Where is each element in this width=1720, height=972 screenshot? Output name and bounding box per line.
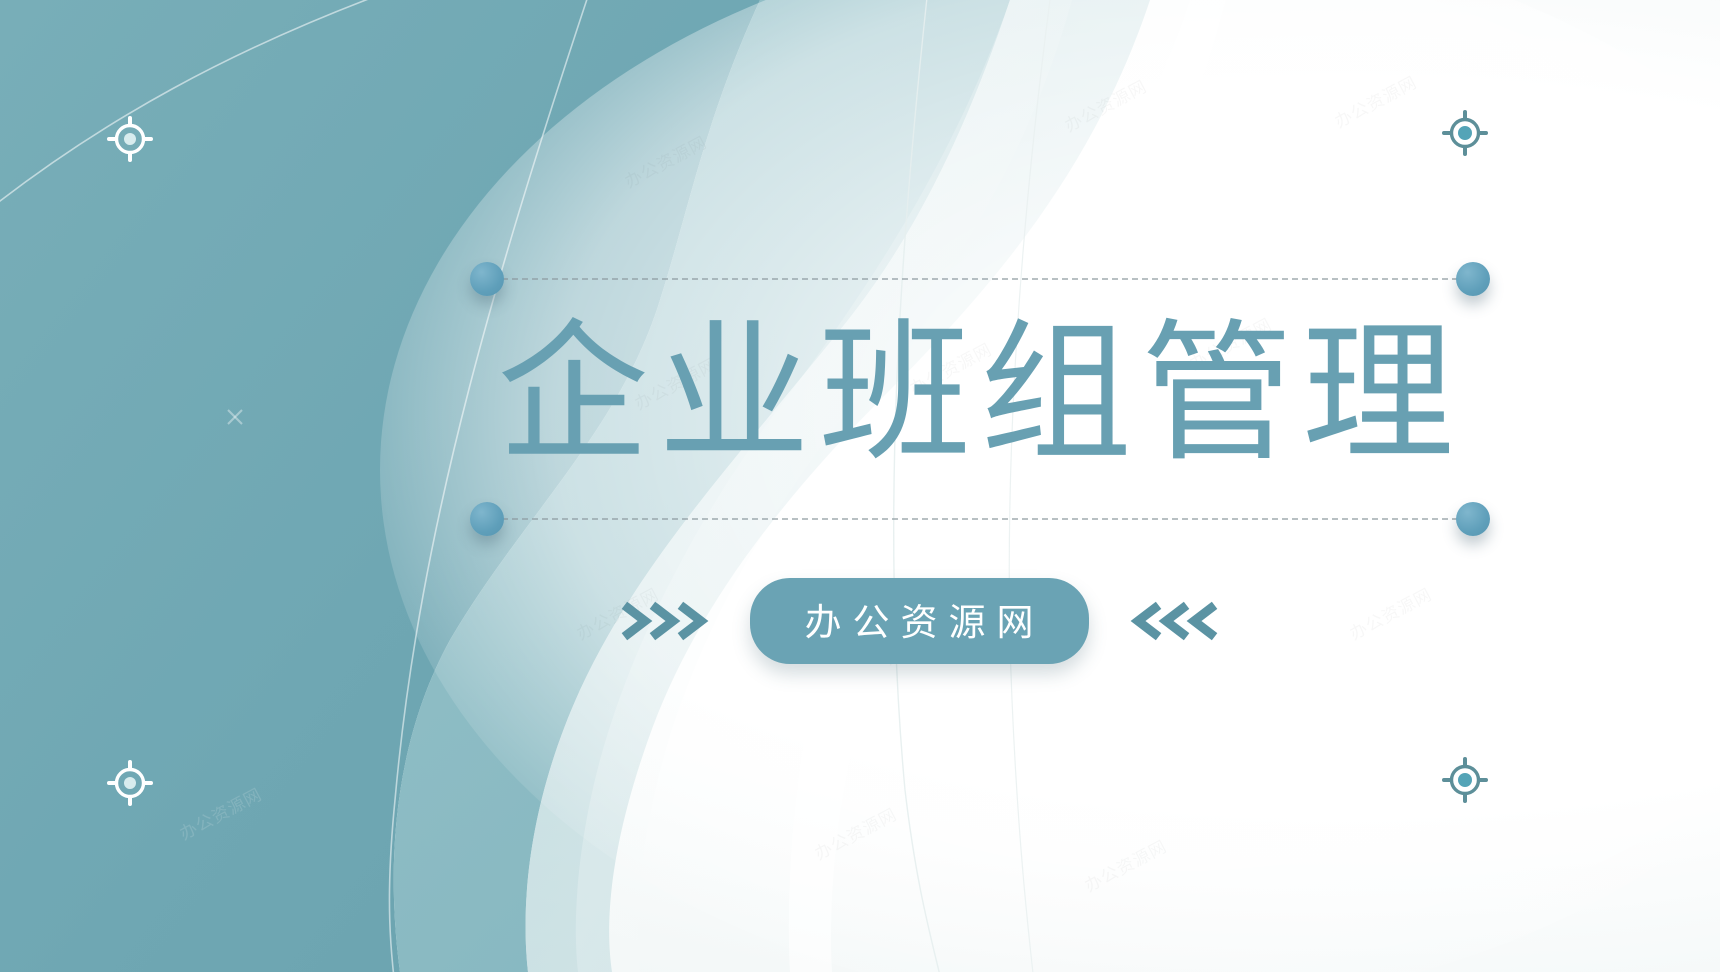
decor-dot-bottom-right [1456, 502, 1490, 536]
dashed-rule-bottom [492, 518, 1468, 520]
page-title: 企业班组管理 [470, 286, 1490, 501]
dashed-rule-top [492, 278, 1468, 280]
chevron-right-triple-icon [620, 598, 716, 644]
crosshair-icon [103, 756, 157, 810]
title-block: 企业班组管理 [470, 262, 1490, 534]
decor-dot-bottom-left [470, 502, 504, 536]
crosshair-icon [103, 112, 157, 166]
subtitle-row: 办公资源网 [0, 578, 1720, 664]
chevron-left-triple-icon [1123, 598, 1219, 644]
crosshair-icon [1438, 753, 1492, 807]
subtitle-pill: 办公资源网 [750, 578, 1089, 664]
crosshair-icon [1438, 106, 1492, 160]
presentation-title-slide: 办公资源网 办公资源网 办公资源网 办公资源网 办公资源网 办公资源网 办公资源… [0, 0, 1720, 972]
